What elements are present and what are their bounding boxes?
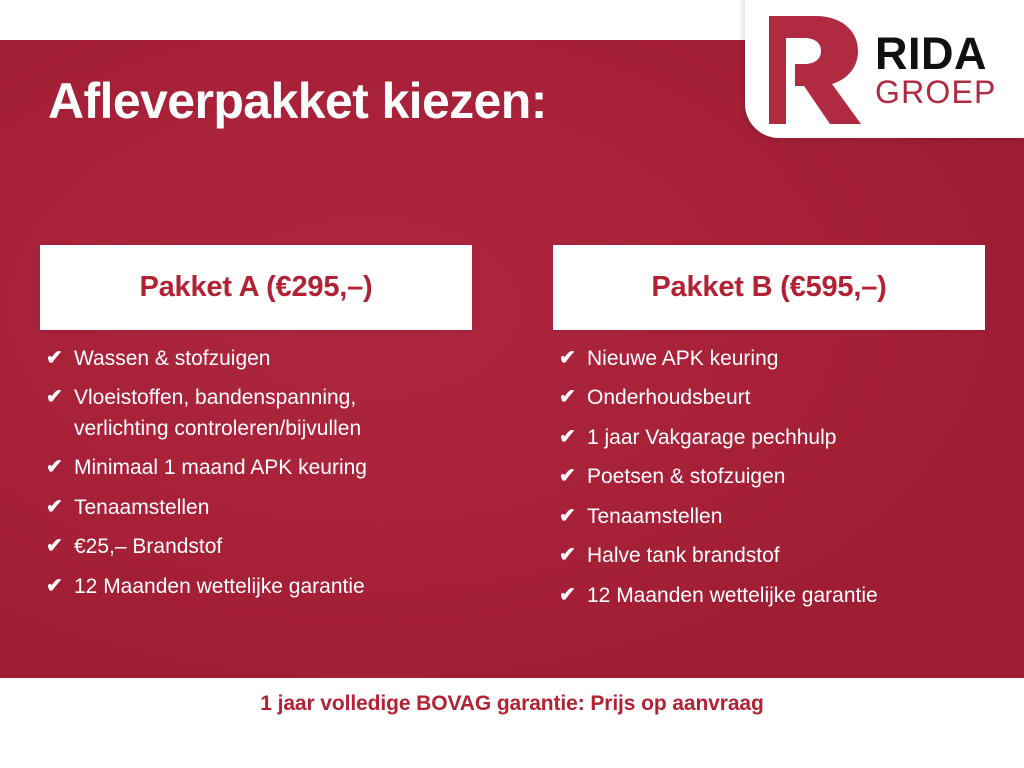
footer-note: 1 jaar volledige BOVAG garantie: Prijs o… xyxy=(260,692,763,716)
list-item-label: Nieuwe APK keuring xyxy=(587,344,985,374)
package-column-a: Pakket A (€295,–) ✔Wassen & stofzuigen✔V… xyxy=(40,245,472,611)
brand-logo: RIDA GROEP xyxy=(759,14,1024,126)
list-item-label: €25,– Brandstof xyxy=(74,532,472,562)
brand-wordmark: RIDA GROEP xyxy=(875,33,997,107)
check-icon: ✔ xyxy=(46,344,74,373)
list-item: ✔Nieuwe APK keuring xyxy=(553,344,985,374)
list-item-label: Tenaamstellen xyxy=(74,493,472,523)
list-item: ✔1 jaar Vakgarage pechhulp xyxy=(553,423,985,453)
check-icon: ✔ xyxy=(559,581,587,610)
list-item-label: Tenaamstellen xyxy=(587,502,985,532)
list-item: ✔12 Maanden wettelijke garantie xyxy=(553,581,985,611)
check-icon: ✔ xyxy=(559,541,587,570)
list-item: ✔Halve tank brandstof xyxy=(553,541,985,571)
list-item: ✔Minimaal 1 maand APK keuring xyxy=(40,453,472,483)
page-title: Afleverpakket kiezen: xyxy=(48,76,547,126)
package-a-feature-list: ✔Wassen & stofzuigen✔Vloeistoffen, bande… xyxy=(40,330,472,602)
brand-logo-panel: RIDA GROEP xyxy=(745,0,1024,138)
list-item-label: Poetsen & stofzuigen xyxy=(587,462,985,492)
package-b-title: Pakket B (€595,–) xyxy=(651,271,886,304)
package-b-feature-list: ✔Nieuwe APK keuring✔Onderhoudsbeurt✔1 ja… xyxy=(553,330,985,611)
check-icon: ✔ xyxy=(559,383,587,412)
list-item-label: Vloeistoffen, bandenspanning, verlichtin… xyxy=(74,383,472,444)
package-a-header[interactable]: Pakket A (€295,–) xyxy=(40,245,472,330)
list-item-label: Onderhoudsbeurt xyxy=(587,383,985,413)
list-item: ✔Wassen & stofzuigen xyxy=(40,344,472,374)
check-icon: ✔ xyxy=(46,493,74,522)
package-column-b: Pakket B (€595,–) ✔Nieuwe APK keuring✔On… xyxy=(553,245,985,620)
package-a-title: Pakket A (€295,–) xyxy=(139,271,372,304)
list-item: ✔Onderhoudsbeurt xyxy=(553,383,985,413)
check-icon: ✔ xyxy=(46,532,74,561)
brand-name-primary: RIDA xyxy=(875,33,997,75)
check-icon: ✔ xyxy=(46,453,74,482)
list-item: ✔Vloeistoffen, bandenspanning, verlichti… xyxy=(40,383,472,444)
list-item-label: 12 Maanden wettelijke garantie xyxy=(74,572,472,602)
list-item-label: Halve tank brandstof xyxy=(587,541,985,571)
brand-name-secondary: GROEP xyxy=(875,77,997,107)
list-item: ✔Poetsen & stofzuigen xyxy=(553,462,985,492)
check-icon: ✔ xyxy=(46,572,74,601)
list-item-label: Minimaal 1 maand APK keuring xyxy=(74,453,472,483)
slide-canvas: Afleverpakket kiezen: Pakket A (€295,–) … xyxy=(0,0,1024,768)
package-b-header[interactable]: Pakket B (€595,–) xyxy=(553,245,985,330)
check-icon: ✔ xyxy=(559,423,587,452)
list-item: ✔Tenaamstellen xyxy=(553,502,985,532)
list-item-label: 1 jaar Vakgarage pechhulp xyxy=(587,423,985,453)
list-item-label: 12 Maanden wettelijke garantie xyxy=(587,581,985,611)
list-item-label: Wassen & stofzuigen xyxy=(74,344,472,374)
check-icon: ✔ xyxy=(559,502,587,531)
footer-bar: 1 jaar volledige BOVAG garantie: Prijs o… xyxy=(0,678,1024,768)
check-icon: ✔ xyxy=(46,383,74,412)
list-item: ✔Tenaamstellen xyxy=(40,493,472,523)
rida-r-monogram-icon xyxy=(759,14,863,126)
check-icon: ✔ xyxy=(559,462,587,491)
check-icon: ✔ xyxy=(559,344,587,373)
list-item: ✔12 Maanden wettelijke garantie xyxy=(40,572,472,602)
list-item: ✔€25,– Brandstof xyxy=(40,532,472,562)
